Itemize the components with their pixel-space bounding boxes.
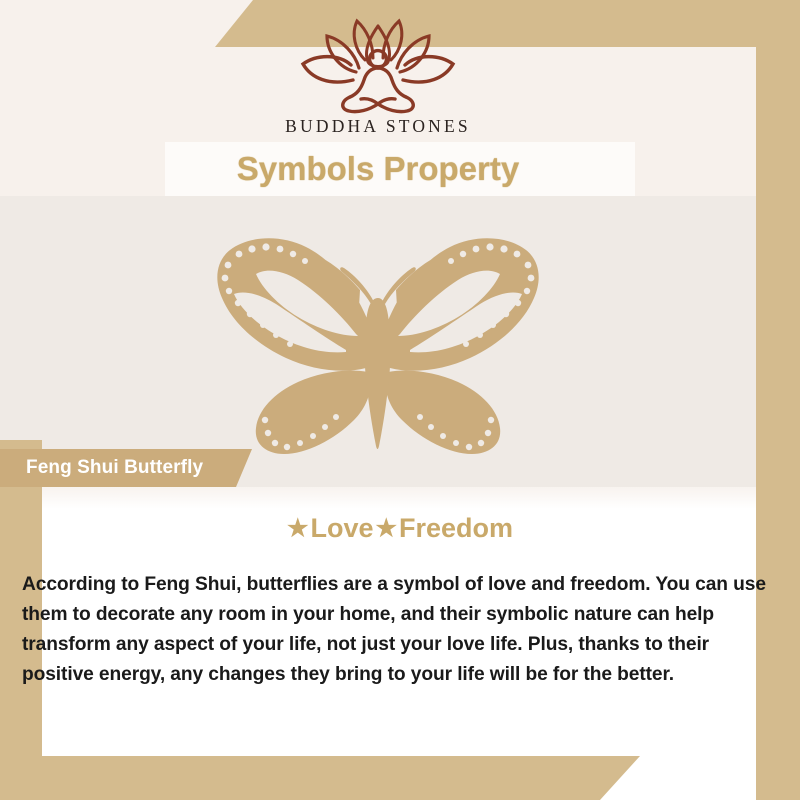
butterfly-illustration bbox=[0, 232, 756, 464]
body-paragraph: According to Feng Shui, butterflies are … bbox=[22, 570, 784, 690]
brand-name: BUDDHA STONES bbox=[285, 116, 471, 137]
brand-logo: BUDDHA STONES bbox=[0, 18, 756, 137]
butterfly-icon bbox=[208, 232, 548, 464]
feng-shui-butterfly-banner: Feng Shui Butterfly bbox=[0, 449, 252, 487]
lotus-meditation-icon bbox=[293, 18, 463, 114]
gold-frame-bottom bbox=[0, 756, 640, 800]
heading-love-text: Love bbox=[310, 513, 373, 544]
star-icon-left: ★ bbox=[287, 517, 309, 541]
banner-label: Feng Shui Butterfly bbox=[26, 457, 203, 479]
love-freedom-heading: ★ Love ★ Freedom bbox=[0, 513, 800, 544]
heading-freedom-text: Freedom bbox=[399, 513, 513, 544]
infographic-page: BUDDHA STONES Symbols Property bbox=[0, 0, 800, 800]
star-icon-middle: ★ bbox=[376, 517, 398, 541]
background-fade-divider bbox=[42, 487, 756, 509]
page-title: Symbols Property bbox=[0, 142, 756, 196]
